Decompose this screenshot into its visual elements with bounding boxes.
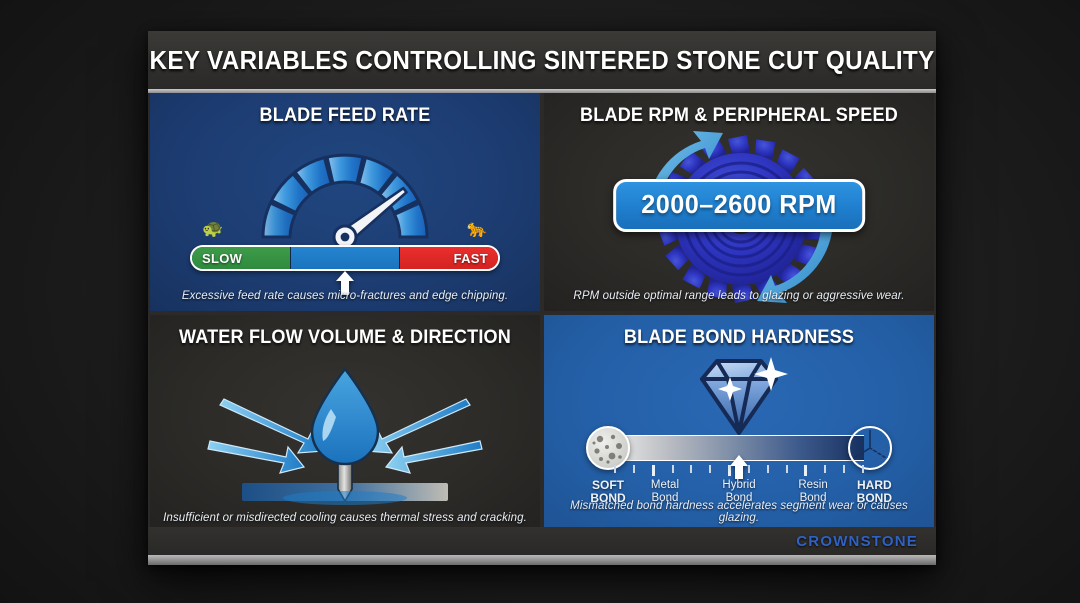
scale-segment-optimal: [290, 247, 400, 269]
tick: [786, 465, 788, 473]
rpm-value: 2000–2600 RPM: [641, 189, 837, 220]
brand-logo: CROWNSTONE: [796, 533, 918, 550]
scale-segment-slow: SLOW: [192, 247, 290, 269]
diamond-icon: [680, 353, 798, 437]
hard-bond-swatch: [848, 426, 892, 470]
panel-title: BLADE BOND HARDNESS: [554, 327, 925, 349]
tick: [824, 465, 826, 473]
tick: [672, 465, 674, 473]
cheetah-icon: 🐆: [467, 219, 488, 239]
tick: [767, 465, 769, 473]
panel-grid: BLADE FEED RATE: [148, 93, 936, 533]
tick: [748, 465, 750, 473]
infographic-poster: KEY VARIABLES CONTROLLING SINTERED STONE…: [148, 31, 936, 565]
panel-title: BLADE RPM & PERIPHERAL SPEED: [554, 105, 925, 127]
tick: [709, 465, 711, 473]
panel-title: WATER FLOW VOLUME & DIRECTION: [160, 327, 531, 349]
bond-marker-arrow: [730, 455, 748, 479]
tick: [633, 465, 635, 473]
panel-caption: Mismatched bond hardness accelerates seg…: [554, 500, 924, 524]
panel-water-flow[interactable]: WATER FLOW VOLUME & DIRECTION: [150, 315, 540, 533]
page-title: KEY VARIABLES CONTROLLING SINTERED STONE…: [149, 45, 934, 76]
tick: [614, 465, 616, 473]
panel-title: BLADE FEED RATE: [160, 105, 531, 127]
soft-bond-swatch: [586, 426, 630, 470]
panel-blade-feed-rate[interactable]: BLADE FEED RATE: [150, 93, 540, 311]
footer-divider: [148, 555, 936, 565]
rpm-range-badge: 2000–2600 RPM: [613, 179, 865, 232]
poster-stage: KEY VARIABLES CONTROLLING SINTERED STONE…: [0, 0, 1080, 603]
turtle-icon: 🐢: [202, 219, 223, 239]
tick-major: [804, 465, 807, 476]
panel-caption: Insufficient or misdirected cooling caus…: [160, 512, 530, 524]
water-droplet-icon: [190, 355, 500, 525]
panel-caption: Excessive feed rate causes micro-fractur…: [160, 290, 530, 302]
tick: [690, 465, 692, 473]
tick: [843, 465, 845, 473]
feed-rate-scale[interactable]: SLOW FAST: [190, 245, 500, 271]
poster-footer: CROWNSTONE: [148, 527, 936, 555]
tick-major: [652, 465, 655, 476]
scale-segment-fast: FAST: [400, 247, 498, 269]
speedometer-icon: [250, 139, 440, 247]
tick: [862, 465, 864, 473]
panel-caption: RPM outside optimal range leads to glazi…: [554, 290, 924, 302]
panel-bond-hardness[interactable]: BLADE BOND HARDNESS: [544, 315, 934, 533]
fast-label: FAST: [444, 251, 498, 266]
slow-label: SLOW: [192, 251, 252, 266]
panel-blade-rpm[interactable]: BLADE RPM & PERIPHERAL SPEED: [544, 93, 934, 311]
poster-header: KEY VARIABLES CONTROLLING SINTERED STONE…: [148, 31, 936, 89]
